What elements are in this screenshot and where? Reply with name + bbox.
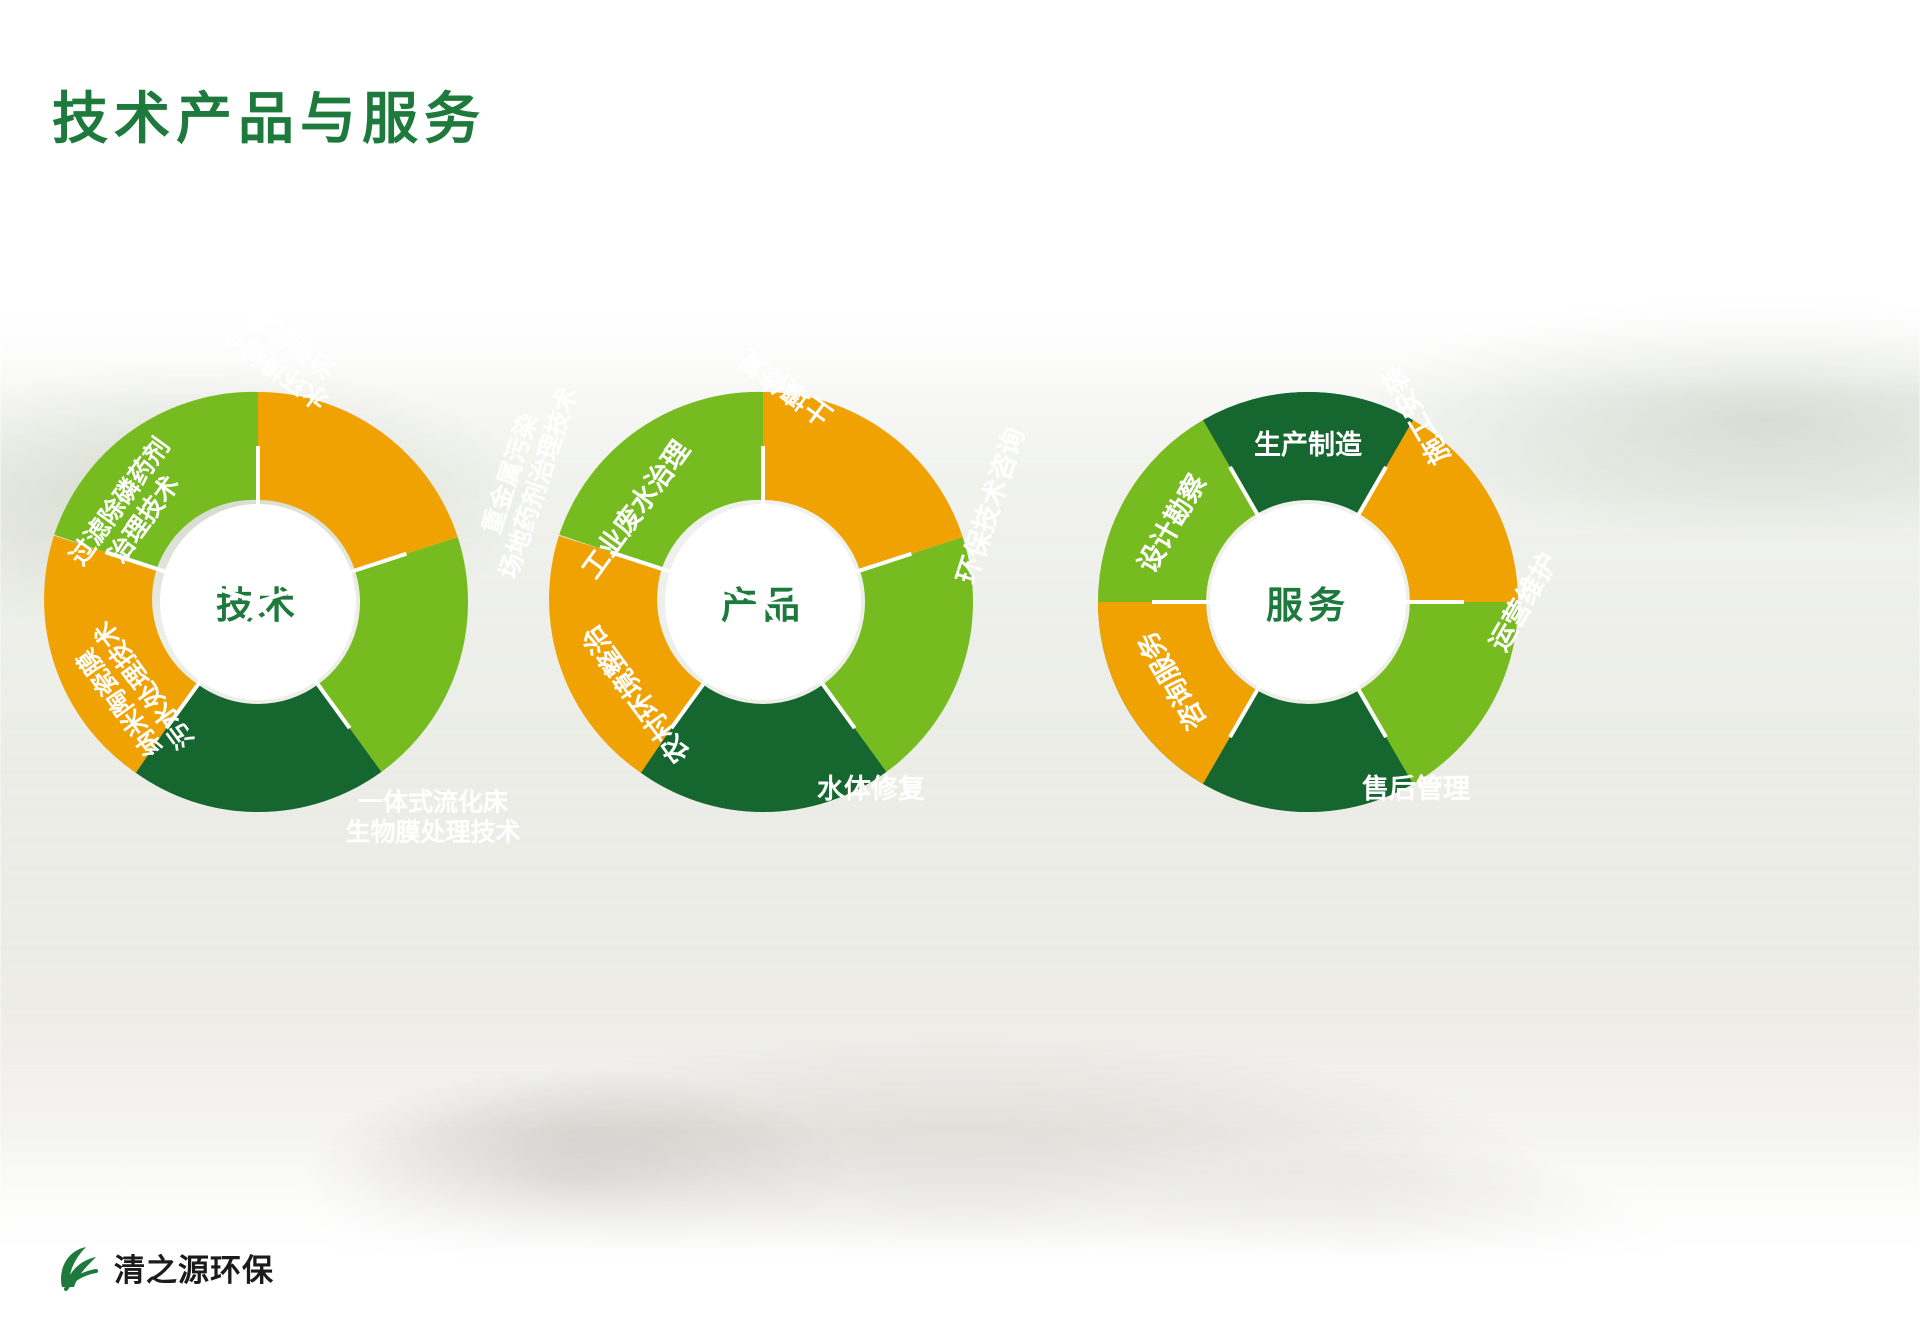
donut-chart-service: 生产制造 施工安装 运营维护 售后管理 咨询服务 设计勘察 服务 <box>1098 392 1518 812</box>
segment-tech-5[interactable] <box>98 552 166 728</box>
segment-tech-4[interactable] <box>166 728 349 758</box>
donut-chart-tech: 过滤除磷药剂 治理技术 水环境综合 治理技术 重金属污染 场地药剂治理技术 一体… <box>48 392 468 812</box>
donut-service-center-label: 服务 <box>1266 575 1350 629</box>
donut-tech-center-label: 技术 <box>216 575 300 629</box>
logo-text: 清之源环保 <box>114 1245 274 1290</box>
donut-product-hub: 产品 <box>665 504 861 700</box>
segment-product-5[interactable] <box>603 552 671 728</box>
footer-logo: 清之源环保 <box>56 1238 274 1296</box>
segment-tech-3[interactable] <box>350 554 414 728</box>
segment-product-4[interactable] <box>671 728 854 758</box>
background-fade-bottom <box>0 1130 1920 1330</box>
donut-product-center-label: 产品 <box>721 575 805 629</box>
background-fade-top <box>0 260 1920 400</box>
donut-chart-product: 工业废水治理 土壤修复 环保技术咨询 水体修复 农村环境整治 产品 <box>553 392 973 812</box>
segment-product-3[interactable] <box>855 554 919 728</box>
donut-service-hub: 服务 <box>1210 504 1406 700</box>
segment-service-top[interactable] <box>1230 446 1386 467</box>
donut-tech-hub: 技术 <box>160 504 356 700</box>
segment-service-bottom[interactable] <box>1230 737 1386 758</box>
page-title: 技术产品与服务 <box>52 74 486 155</box>
leaf-swirl-icon <box>56 1241 102 1293</box>
